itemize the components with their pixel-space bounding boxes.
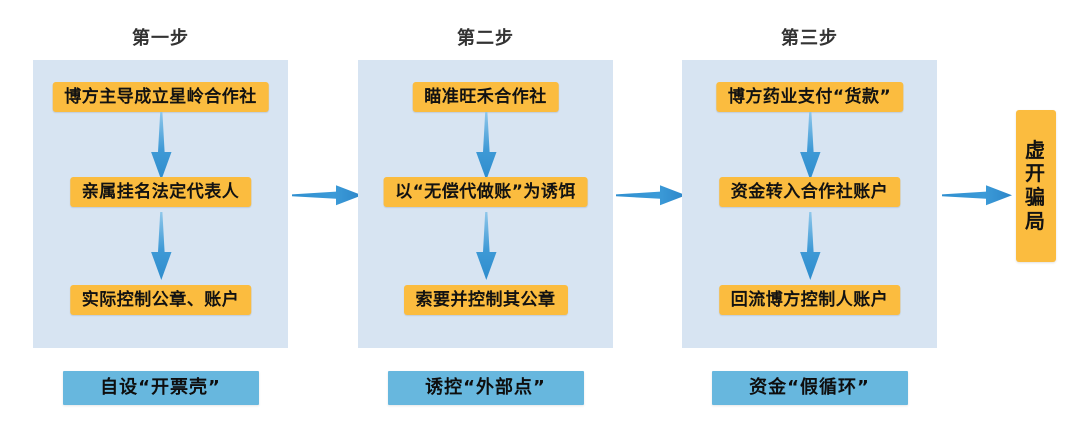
step-panel-3: 博方药业支付“货款” 资金转入合作社账户 [682, 60, 937, 348]
step-title-1: 第一步 [33, 28, 288, 50]
outcome-char-1: 虚 [1025, 139, 1047, 163]
step-caption-3[interactable]: 资金“假循环” [712, 371, 908, 405]
outcome-char-4: 局 [1025, 210, 1047, 234]
right-arrow-icon-1 [292, 178, 364, 212]
step3-node-1[interactable]: 博方药业支付“货款” [716, 82, 903, 112]
step-column-1: 第一步 博方主导成立星岭合作社 亲属挂名法定代表人 [33, 0, 288, 430]
step2-node-3[interactable]: 索要并控制其公章 [404, 285, 568, 315]
step-column-2: 第二步 瞄准旺禾合作社 以“无偿代做账”为诱饵 [358, 0, 613, 430]
down-arrow-icon [793, 212, 827, 284]
step-caption-1[interactable]: 自设“开票壳” [63, 371, 259, 405]
step-caption-2[interactable]: 诱控“外部点” [388, 371, 584, 405]
step-title-2: 第二步 [358, 28, 613, 50]
down-arrow-icon [144, 112, 178, 184]
outcome-box[interactable]: 虚 开 骗 局 [1016, 110, 1056, 262]
down-arrow-icon [469, 212, 503, 284]
down-arrow-icon [469, 112, 503, 184]
step2-node-2[interactable]: 以“无偿代做账”为诱饵 [383, 177, 588, 207]
step-panel-2: 瞄准旺禾合作社 以“无偿代做账”为诱饵 [358, 60, 613, 348]
step-panel-1: 博方主导成立星岭合作社 亲属挂名法定代表人 [33, 60, 288, 348]
right-arrow-icon-3 [942, 178, 1014, 212]
step3-node-3[interactable]: 回流博方控制人账户 [719, 285, 901, 315]
outcome-char-3: 骗 [1025, 186, 1047, 210]
step2-node-1[interactable]: 瞄准旺禾合作社 [412, 82, 559, 112]
down-arrow-icon [793, 112, 827, 184]
step-column-3: 第三步 博方药业支付“货款” 资金转入合作社账户 [682, 0, 937, 430]
step1-node-2[interactable]: 亲属挂名法定代表人 [70, 177, 252, 207]
flowchart-canvas: 第一步 博方主导成立星岭合作社 亲属挂名法定代表人 [0, 0, 1080, 430]
step1-node-1[interactable]: 博方主导成立星岭合作社 [52, 82, 269, 112]
right-arrow-icon-2 [616, 178, 688, 212]
down-arrow-icon [144, 212, 178, 284]
step3-node-2[interactable]: 资金转入合作社账户 [719, 177, 901, 207]
step-title-3: 第三步 [682, 28, 937, 50]
step1-node-3[interactable]: 实际控制公章、账户 [70, 285, 252, 315]
outcome-char-2: 开 [1025, 162, 1047, 186]
